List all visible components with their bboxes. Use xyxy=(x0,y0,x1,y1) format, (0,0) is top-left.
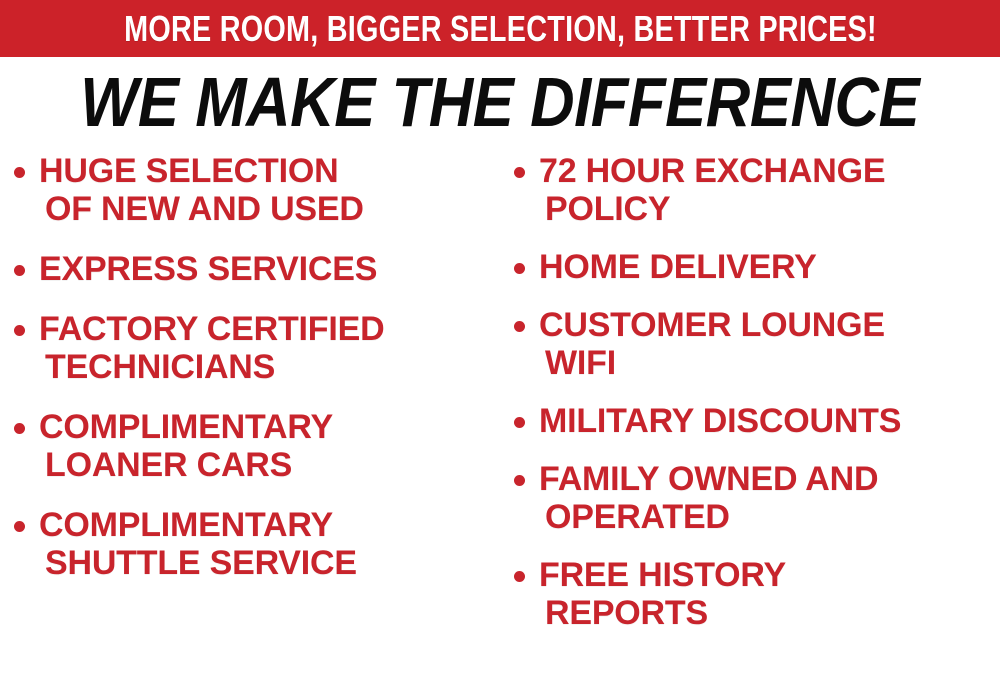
benefit-item-line1: CUSTOMER LOUNGE xyxy=(539,306,885,344)
benefit-item-line1: FREE HISTORY xyxy=(539,556,786,594)
benefit-item-line1: COMPLIMENTARY xyxy=(39,506,333,544)
benefit-item: HOME DELIVERY xyxy=(514,248,1000,286)
benefit-item: HUGE SELECTIONOF NEW AND USED xyxy=(14,152,500,228)
benefit-item-line1: 72 HOUR EXCHANGE xyxy=(539,152,885,190)
benefit-item-label: HOME DELIVERY xyxy=(539,248,817,286)
benefit-item-line1: FAMILY OWNED AND xyxy=(539,460,878,498)
banner-headline: MORE ROOM, BIGGER SELECTION, BETTER PRIC… xyxy=(124,11,877,47)
bullet-dot-icon xyxy=(514,475,525,486)
benefit-item-label: FREE HISTORYREPORTS xyxy=(539,556,786,632)
benefit-item-line1: FACTORY CERTIFIED xyxy=(39,310,384,348)
benefit-item-line1: EXPRESS SERVICES xyxy=(39,250,377,288)
bullet-dot-icon xyxy=(514,571,525,582)
bullet-dot-icon xyxy=(514,167,525,178)
bullet-dot-icon xyxy=(14,167,25,178)
benefit-item-line2: TECHNICIANS xyxy=(39,348,384,386)
benefit-item: MILITARY DISCOUNTS xyxy=(514,402,1000,440)
benefit-item-label: 72 HOUR EXCHANGEPOLICY xyxy=(539,152,885,228)
headline-container: WE MAKE THE DIFFERENCE xyxy=(0,66,1000,138)
benefit-item-line1: HUGE SELECTION xyxy=(39,152,338,190)
benefits-column-left: HUGE SELECTIONOF NEW AND USEDEXPRESS SER… xyxy=(14,152,500,604)
benefit-item: COMPLIMENTARYLOANER CARS xyxy=(14,408,500,484)
benefit-item: EXPRESS SERVICES xyxy=(14,250,500,288)
benefit-item-line2: OPERATED xyxy=(539,498,878,536)
top-banner: MORE ROOM, BIGGER SELECTION, BETTER PRIC… xyxy=(0,0,1000,57)
benefit-item-label: COMPLIMENTARYLOANER CARS xyxy=(39,408,333,484)
bullet-dot-icon xyxy=(514,321,525,332)
benefit-item: CUSTOMER LOUNGEWIFI xyxy=(514,306,1000,382)
benefit-item-label: CUSTOMER LOUNGEWIFI xyxy=(539,306,885,382)
benefit-item-line2: SHUTTLE SERVICE xyxy=(39,544,357,582)
benefit-item-label: HUGE SELECTIONOF NEW AND USED xyxy=(39,152,364,228)
benefit-item-line1: HOME DELIVERY xyxy=(539,248,817,286)
benefit-item: FAMILY OWNED ANDOPERATED xyxy=(514,460,1000,536)
benefit-item-label: COMPLIMENTARYSHUTTLE SERVICE xyxy=(39,506,357,582)
benefit-item: COMPLIMENTARYSHUTTLE SERVICE xyxy=(14,506,500,582)
benefit-item-line2: LOANER CARS xyxy=(39,446,333,484)
bullet-dot-icon xyxy=(14,265,25,276)
promo-poster: MORE ROOM, BIGGER SELECTION, BETTER PRIC… xyxy=(0,0,1000,694)
bullet-dot-icon xyxy=(14,521,25,532)
page-title: WE MAKE THE DIFFERENCE xyxy=(80,67,919,137)
bullet-dot-icon xyxy=(14,325,25,336)
benefit-item: 72 HOUR EXCHANGEPOLICY xyxy=(514,152,1000,228)
benefit-item: FACTORY CERTIFIEDTECHNICIANS xyxy=(14,310,500,386)
benefit-item-label: EXPRESS SERVICES xyxy=(39,250,377,288)
bullet-dot-icon xyxy=(514,417,525,428)
bullet-dot-icon xyxy=(514,263,525,274)
benefits-column-right: 72 HOUR EXCHANGEPOLICYHOME DELIVERYCUSTO… xyxy=(514,152,1000,652)
benefit-item: FREE HISTORYREPORTS xyxy=(514,556,1000,632)
benefit-item-line1: COMPLIMENTARY xyxy=(39,408,333,446)
benefits-columns: HUGE SELECTIONOF NEW AND USEDEXPRESS SER… xyxy=(0,152,1000,694)
benefit-item-line2: POLICY xyxy=(539,190,885,228)
benefit-item-line2: WIFI xyxy=(539,344,885,382)
benefit-item-line1: MILITARY DISCOUNTS xyxy=(539,402,901,440)
benefit-item-line2: REPORTS xyxy=(539,594,786,632)
benefit-item-label: FAMILY OWNED ANDOPERATED xyxy=(539,460,878,536)
bullet-dot-icon xyxy=(14,423,25,434)
benefit-item-label: FACTORY CERTIFIEDTECHNICIANS xyxy=(39,310,384,386)
benefit-item-label: MILITARY DISCOUNTS xyxy=(539,402,901,440)
benefit-item-line2: OF NEW AND USED xyxy=(39,190,364,228)
